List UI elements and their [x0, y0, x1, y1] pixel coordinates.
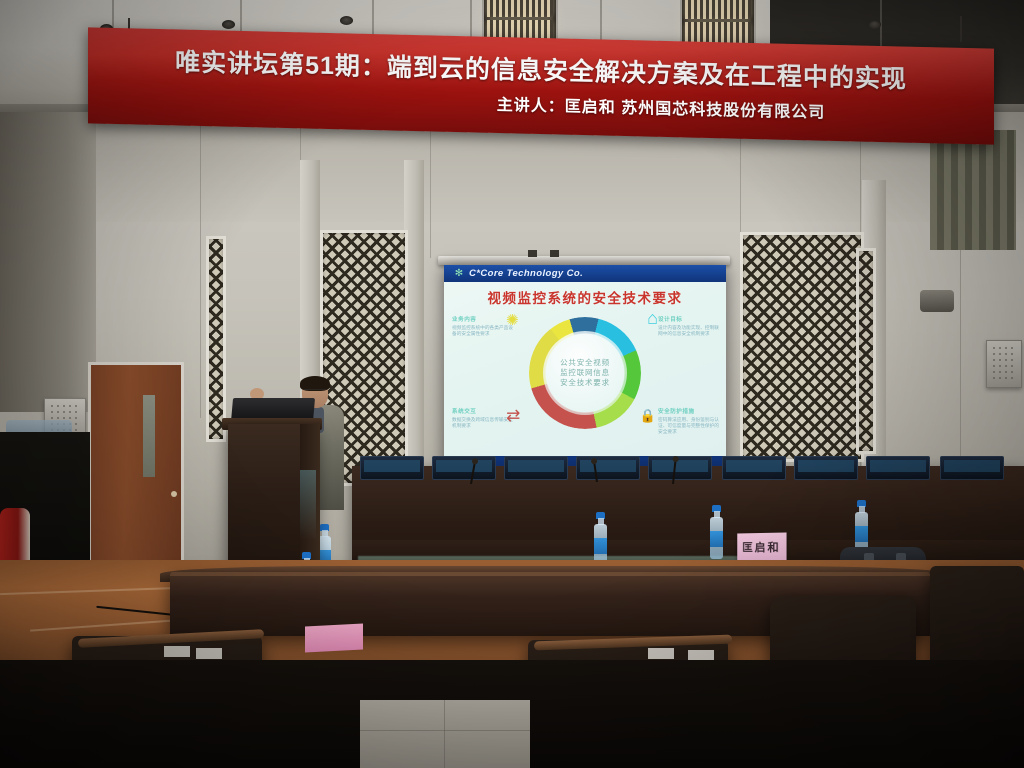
quadrant-body: 密码算法应用、身份鉴别与认证、可信度量与完整性保护的安全要求: [658, 417, 720, 436]
speaker-name-card: 匡启和: [737, 532, 786, 561]
delegate-monitor[interactable]: [504, 456, 568, 480]
slide-title: 视频监控系统的安全技术要求: [444, 287, 726, 307]
side-door[interactable]: [88, 362, 184, 586]
brand-bullet-icon: ✻: [454, 269, 464, 279]
wall-speaker: [986, 340, 1022, 388]
water-bottle[interactable]: [594, 512, 607, 566]
delegate-monitor[interactable]: [648, 456, 712, 480]
acoustic-lattice-panel: [740, 232, 864, 462]
quadrant-body: 数据交换及跨域信息传输安全机制要求: [452, 417, 514, 429]
chair-seat-tag: [164, 646, 190, 657]
slide-brand-label: C*Core Technology Co.: [469, 268, 583, 279]
floor-tile: [360, 700, 530, 768]
slide-quadrant-bottom-left: 系统交互 数据交换及跨域信息传输安全机制要求: [452, 407, 514, 429]
downlight-icon: [868, 20, 881, 29]
downlight-icon: [340, 16, 353, 25]
acoustic-lattice-panel: [856, 248, 876, 454]
delegate-monitor[interactable]: [432, 456, 496, 480]
chair-seat-tag: [648, 648, 674, 659]
home-icon: ⌂: [647, 311, 658, 326]
water-bottle[interactable]: [855, 500, 868, 554]
delegate-monitor[interactable]: [940, 456, 1004, 480]
donut-center-line3: 安全技术要求: [560, 378, 610, 388]
gear-icon: ✺: [506, 313, 519, 328]
quadrant-heading: 安全防护措施: [658, 407, 720, 415]
sync-icon: ⇄: [506, 408, 520, 423]
glasses-icon: [304, 389, 326, 395]
donut-center-line1: 公共安全视频: [560, 358, 610, 368]
slide-quadrant-bottom-right: 安全防护措施 密码算法应用、身份鉴别与认证、可信度量与完整性保护的安全要求: [658, 407, 720, 436]
donut-center-line2: 监控联网信息: [560, 368, 610, 378]
quadrant-heading: 系统交互: [452, 407, 514, 415]
quadrant-heading: 业务内容: [452, 315, 514, 323]
delegate-monitor[interactable]: [722, 456, 786, 480]
lecture-hall-photo: 唯实讲坛第51期：端到云的信息安全解决方案及在工程中的实现 主讲人：匡启和 苏州…: [0, 0, 1024, 768]
donut-diagram: 公共安全视频 监控联网信息 安全技术要求: [529, 317, 641, 429]
delegate-monitor[interactable]: [866, 456, 930, 480]
projection-screen: ✻ C*Core Technology Co. 视频监控系统的安全技术要求 业务…: [444, 265, 726, 468]
door-window: [143, 395, 155, 477]
quadrant-heading: 设计目标: [658, 315, 720, 323]
quadrant-body: 视频监控系统中的各类产品设备的安全属性要求: [452, 325, 514, 337]
quadrant-body: 设计内容及功能实现、控制联网中的信息安全机制要求: [658, 325, 720, 337]
slide-quadrant-top-left: 业务内容 视频监控系统中的各类产品设备的安全属性要求: [452, 315, 514, 337]
door-handle-icon[interactable]: [171, 491, 177, 497]
acoustic-lattice-panel: [206, 236, 226, 442]
delegate-monitor[interactable]: [794, 456, 858, 480]
pink-paper-sheet[interactable]: [305, 623, 363, 652]
slide-header: ✻ C*Core Technology Co.: [444, 265, 726, 282]
water-bottle[interactable]: [710, 505, 723, 559]
ceiling-mounted-speaker: [920, 290, 954, 312]
lock-icon: 🔒: [640, 408, 656, 423]
podium-light-reflection: [300, 470, 316, 540]
projector-screen-roller: [438, 256, 730, 265]
slide-quadrant-top-right: 设计目标 设计内容及功能实现、控制联网中的信息安全机制要求: [658, 315, 720, 337]
delegate-monitor[interactable]: [576, 456, 640, 480]
downlight-icon: [222, 20, 235, 29]
donut-center-label: 公共安全视频 监控联网信息 安全技术要求: [543, 331, 627, 415]
presentation-slide: ✻ C*Core Technology Co. 视频监控系统的安全技术要求 业务…: [444, 265, 726, 468]
chair-seat-tag: [196, 648, 222, 659]
name-card-text: 匡启和: [742, 539, 780, 555]
left-wall-shadow: [0, 112, 96, 412]
window-curtain: [930, 130, 1016, 250]
delegate-monitor[interactable]: [360, 456, 424, 480]
